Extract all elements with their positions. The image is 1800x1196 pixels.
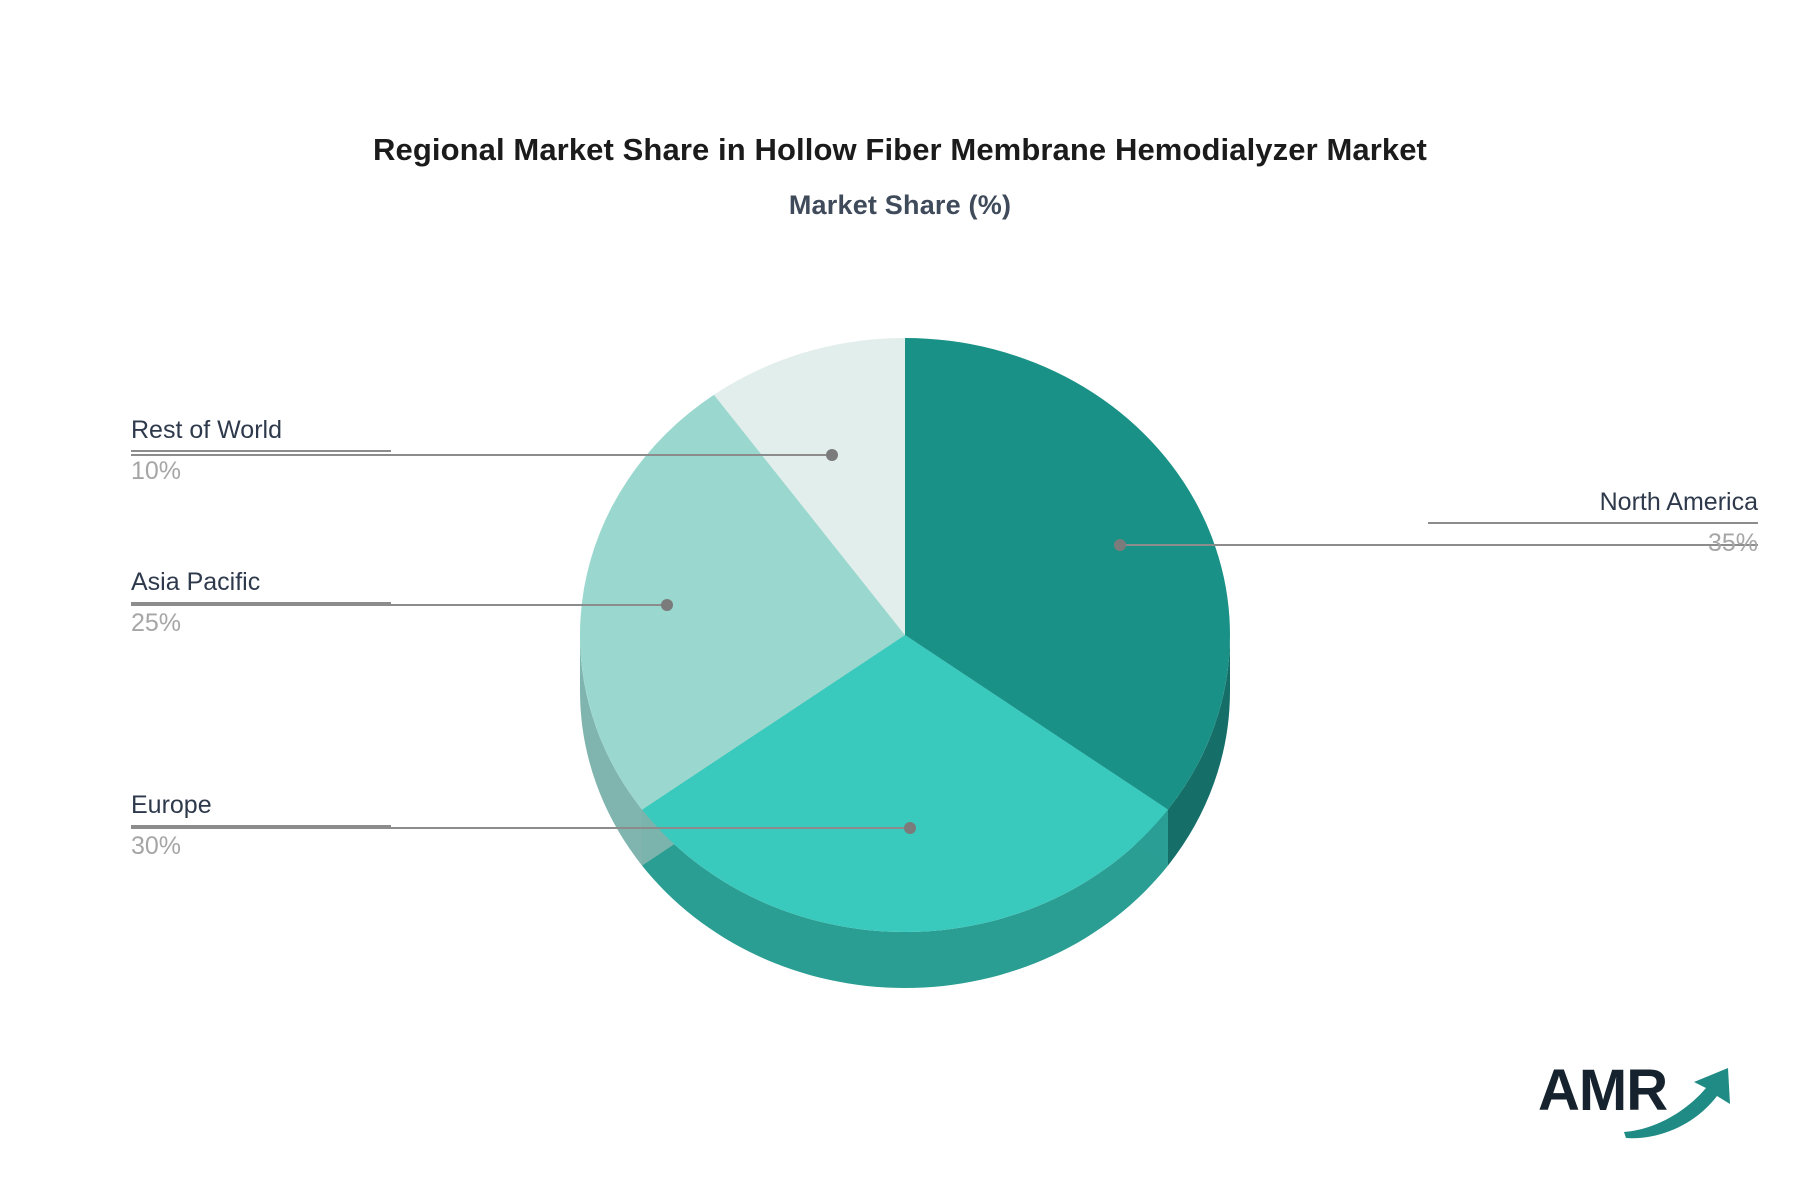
leader-dot [1114,539,1126,551]
callout-rule [131,450,391,452]
leader-dot [904,822,916,834]
leader-dot [661,599,673,611]
callout-rule [131,602,391,604]
callout-north-america: North America 35% [1428,487,1758,558]
callout-label: North America [1428,487,1758,517]
trend-up-arrow-icon [1622,1060,1742,1140]
callout-rest-of-world: Rest of World 10% [131,415,391,486]
callout-value: 25% [131,608,391,638]
chart-canvas: Regional Market Share in Hollow Fiber Me… [0,0,1800,1196]
amr-logo: AMR [1538,1054,1738,1138]
callout-label: Rest of World [131,415,391,445]
callout-rule [131,825,391,827]
callout-value: 30% [131,831,391,861]
callout-value: 35% [1428,528,1758,558]
callout-label: Europe [131,790,391,820]
callout-label: Asia Pacific [131,567,391,597]
callout-value: 10% [131,456,391,486]
callout-europe: Europe 30% [131,790,391,861]
callout-asia-pacific: Asia Pacific 25% [131,567,391,638]
pie-slice-group [580,338,1230,932]
callout-rule [1428,522,1758,524]
leader-dot [826,449,838,461]
